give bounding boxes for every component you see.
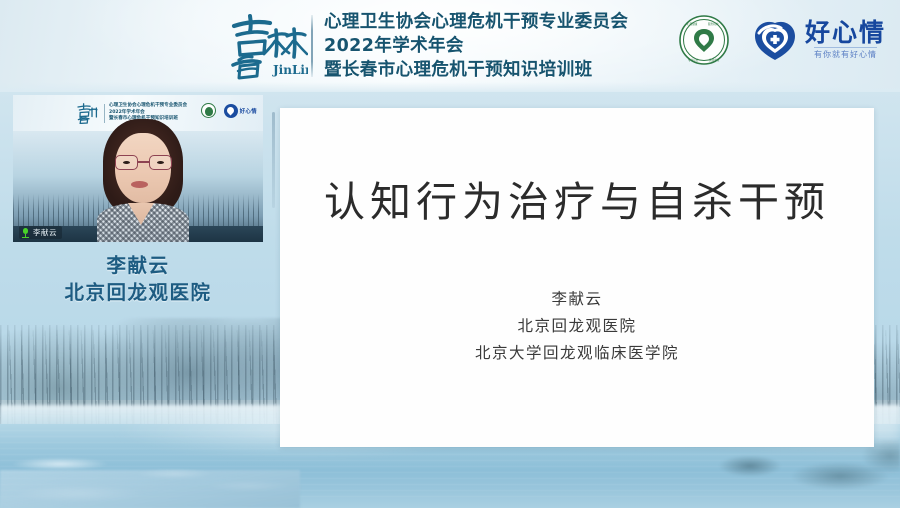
svg-text:专业认证: 专业认证 (688, 58, 699, 62)
jilin-calligraphy-logo: JinLin (226, 10, 308, 82)
microphone-icon (21, 227, 30, 238)
portrait-glasses (115, 155, 172, 170)
screenshot-stage: JinLin 心理卫生协会心理危机干预专业委员会 2022年学术年会 暨长春市心… (0, 0, 900, 508)
header-line-2: 2022年学术年会 (324, 35, 628, 57)
video-certification-seal-icon (201, 103, 216, 118)
glasses-bridge (138, 161, 149, 163)
haoxinqing-brand-logo: 好心情 有你就有好心情 (752, 17, 886, 63)
header-line-1: 心理卫生协会心理危机干预专业委员会 (324, 11, 628, 33)
background-shrubs-right (690, 440, 900, 508)
video-banner-line-1: 心理卫生协会心理危机干预专业委员会 (109, 103, 187, 110)
participant-video-tile[interactable]: 心理卫生协会心理危机干预专业委员会 2022年学术年会 暨长春市心理危机干预知识… (13, 95, 263, 242)
background-gravel-shore (0, 470, 300, 508)
portrait-eye-left (123, 161, 130, 164)
haoxinqing-tagline: 有你就有好心情 (814, 47, 877, 60)
slide-title: 认知行为治疗与自杀干预 (280, 176, 874, 228)
event-header-banner: JinLin 心理卫生协会心理危机干预专业委员会 2022年学术年会 暨长春市心… (0, 0, 900, 92)
header-divider (311, 15, 313, 77)
speaker-name: 李献云 (13, 252, 263, 279)
haoxinqing-name: 好心情 (805, 20, 886, 46)
slide-subtitle-line-3: 北京大学回龙观临床医学院 (280, 340, 874, 367)
haoxinqing-heart-icon (752, 17, 798, 63)
participant-name-label: 李献云 (33, 227, 57, 238)
video-heart-icon (224, 104, 238, 118)
speaker-affiliation: 北京回龙观医院 (13, 279, 263, 306)
header-title-block: 心理卫生协会心理危机干预专业委员会 2022年学术年会 暨长春市心理危机干预知识… (324, 11, 628, 81)
svg-text:心理健康: 心理健康 (687, 22, 698, 26)
participant-portrait (95, 119, 191, 242)
haoxinqing-wordmark: 好心情 有你就有好心情 (805, 20, 886, 60)
svg-text:服务机构: 服务机构 (708, 22, 719, 26)
portrait-eye-right (157, 161, 164, 164)
certification-seal-icon: 心理健康 服务机构 专业认证 资质单位 (678, 14, 730, 66)
svg-text:JinLin: JinLin (272, 63, 308, 77)
presentation-slide[interactable]: 认知行为治疗与自杀干预 李献云 北京回龙观医院 北京大学回龙观临床医学院 (280, 108, 874, 447)
video-haoxinqing-logo: 好心情 (224, 104, 257, 118)
video-banner-logos: 好心情 (201, 103, 257, 118)
portrait-mouth (131, 181, 148, 188)
speaker-caption: 李献云 北京回龙观医院 (13, 252, 263, 306)
slide-subtitle-block: 李献云 北京回龙观医院 北京大学回龙观临床医学院 (280, 286, 874, 367)
slide-subtitle-line-2: 北京回龙观医院 (280, 313, 874, 340)
header-line-3: 暨长春市心理危机干预知识培训班 (324, 59, 628, 81)
video-haoxinqing-name: 好心情 (240, 107, 257, 115)
slide-subtitle-line-1: 李献云 (280, 286, 874, 313)
participant-name-tag: 李献云 (19, 226, 62, 239)
svg-text:资质单位: 资质单位 (709, 58, 720, 62)
slide-edge-rail (272, 112, 275, 208)
header-logo-group: 心理健康 服务机构 专业认证 资质单位 (678, 14, 886, 66)
